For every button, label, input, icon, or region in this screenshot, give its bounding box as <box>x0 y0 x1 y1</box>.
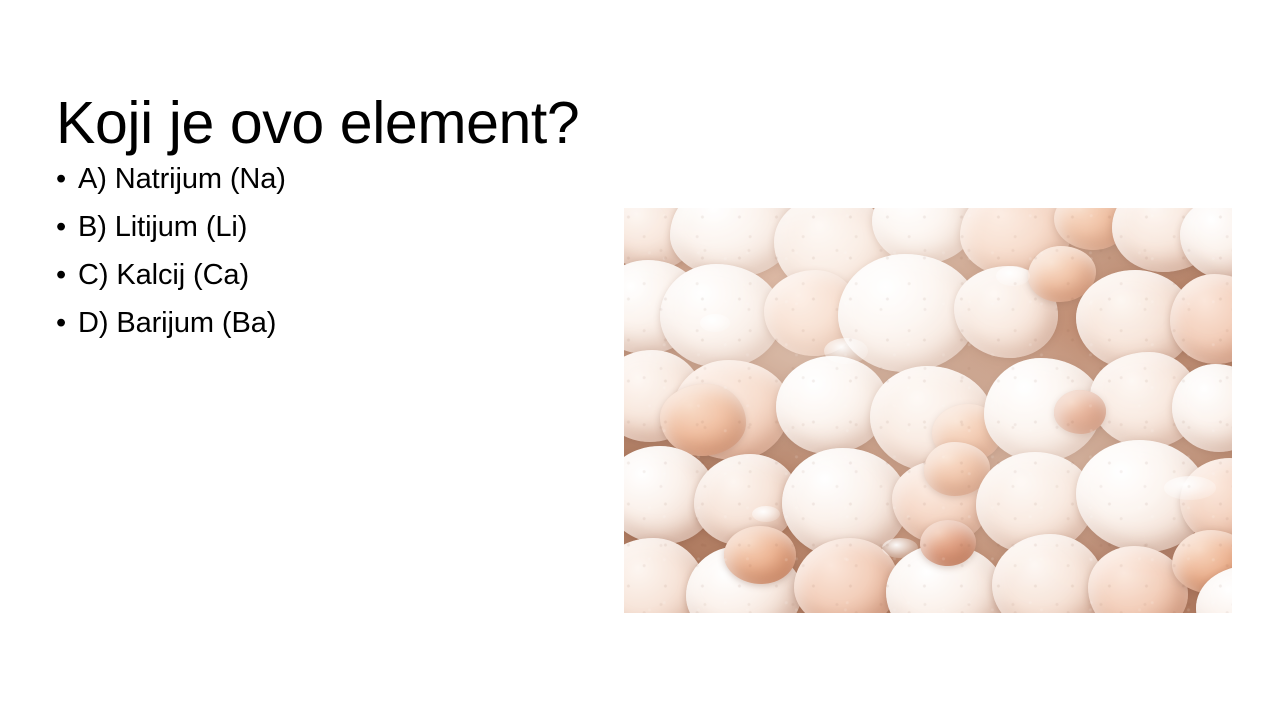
answer-option-a-label: A) Natrijum (Na) <box>78 155 286 203</box>
page-title: Koji je ovo element? <box>56 92 676 155</box>
answer-option-b[interactable]: • B) Litijum (Li) <box>56 203 576 251</box>
answer-option-c-label: C) Kalcij (Ca) <box>78 251 249 299</box>
answer-option-c[interactable]: • C) Kalcij (Ca) <box>56 251 576 299</box>
bullet-icon: • <box>56 155 78 203</box>
slide-canvas: Koji je ovo element? • A) Natrijum (Na) … <box>0 0 1280 720</box>
bullet-icon: • <box>56 299 78 347</box>
image-grain-layer <box>624 208 1232 613</box>
answer-option-d[interactable]: • D) Barijum (Ba) <box>56 299 576 347</box>
answer-option-d-label: D) Barijum (Ba) <box>78 299 276 347</box>
bullet-icon: • <box>56 203 78 251</box>
answer-option-b-label: B) Litijum (Li) <box>78 203 247 251</box>
bullet-icon: • <box>56 251 78 299</box>
answer-option-a[interactable]: • A) Natrijum (Na) <box>56 155 576 203</box>
answer-options-list: • A) Natrijum (Na) • B) Litijum (Li) • C… <box>56 155 576 347</box>
salt-crystals-image <box>624 208 1232 613</box>
